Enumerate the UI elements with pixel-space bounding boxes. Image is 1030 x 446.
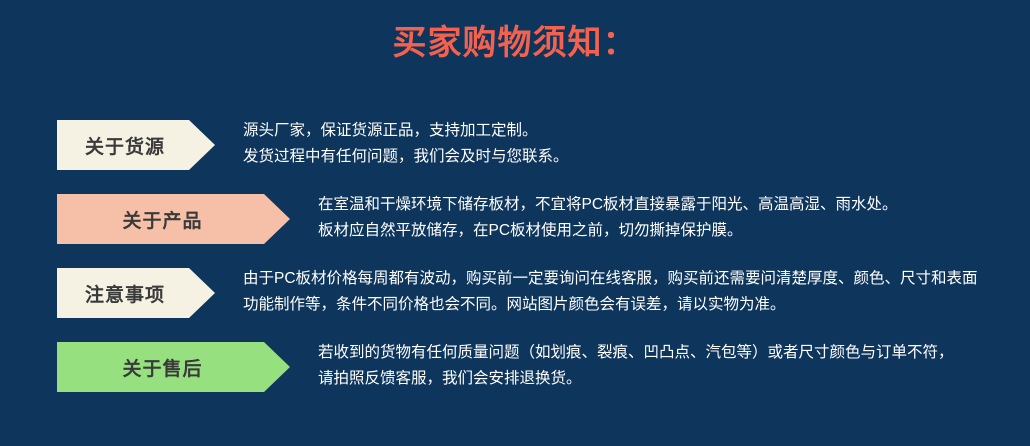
section-body-line: 板材应自然平放储存，在PC板材使用之前，切勿撕掉保护膜。 <box>318 218 898 244</box>
section-body-line: 功能制作等，条件不同价格也会不同。网站图片颜色会有误差，请以实物为准。 <box>243 292 978 318</box>
section-banner-shouhou: 关于售后 <box>57 342 290 392</box>
section-banner-label: 关于产品 <box>122 206 202 233</box>
notice-section-row: 关于产品 在室温和干燥环境下储存板材，不宜将PC板材直接暴露于阳光、高温高湿、雨… <box>0 194 1030 246</box>
notice-section-row: 关于货源 源头厂家，保证货源正品，支持加工定制。 发货过程中有任何问题，我们会及… <box>0 120 1030 172</box>
notice-section-row: 注意事项 由于PC板材价格每周都有波动，购买前一定要询问在线客服，购买前还需要问… <box>0 268 1030 320</box>
section-banner-label: 注意事项 <box>85 280 165 307</box>
page-title: 买家购物须知： <box>0 20 1030 66</box>
section-banner-chanpin: 关于产品 <box>57 194 290 244</box>
section-body-line: 源头厂家，保证货源正品，支持加工定制。 <box>243 118 569 144</box>
section-body-line: 请拍照反馈客服，我们会安排退换货。 <box>318 366 954 392</box>
section-body-line: 由于PC板材价格每周都有波动，购买前一定要询问在线客服，购买前还需要问清楚厚度、… <box>243 266 978 292</box>
section-banner-huoyuan: 关于货源 <box>57 120 215 170</box>
buyer-notice-banner: 买家购物须知： 关于货源 源头厂家，保证货源正品，支持加工定制。 发货过程中有任… <box>0 0 1030 446</box>
notice-section-row: 关于售后 若收到的货物有任何质量问题（如划痕、裂痕、凹凸点、汽包等）或者尺寸颜色… <box>0 342 1030 394</box>
section-body-line: 在室温和干燥环境下储存板材，不宜将PC板材直接暴露于阳光、高温高湿、雨水处。 <box>318 192 898 218</box>
section-body-line: 若收到的货物有任何质量问题（如划痕、裂痕、凹凸点、汽包等）或者尺寸颜色与订单不符… <box>318 340 954 366</box>
section-body-text: 若收到的货物有任何质量问题（如划痕、裂痕、凹凸点、汽包等）或者尺寸颜色与订单不符… <box>318 340 954 392</box>
section-banner-zhuyi: 注意事项 <box>57 268 215 318</box>
section-banner-label: 关于货源 <box>85 132 165 159</box>
section-banner-label: 关于售后 <box>122 354 202 381</box>
section-body-text: 由于PC板材价格每周都有波动，购买前一定要询问在线客服，购买前还需要问清楚厚度、… <box>243 266 978 318</box>
section-body-text: 在室温和干燥环境下储存板材，不宜将PC板材直接暴露于阳光、高温高湿、雨水处。 板… <box>318 192 898 244</box>
section-body-text: 源头厂家，保证货源正品，支持加工定制。 发货过程中有任何问题，我们会及时与您联系… <box>243 118 569 170</box>
section-body-line: 发货过程中有任何问题，我们会及时与您联系。 <box>243 144 569 170</box>
